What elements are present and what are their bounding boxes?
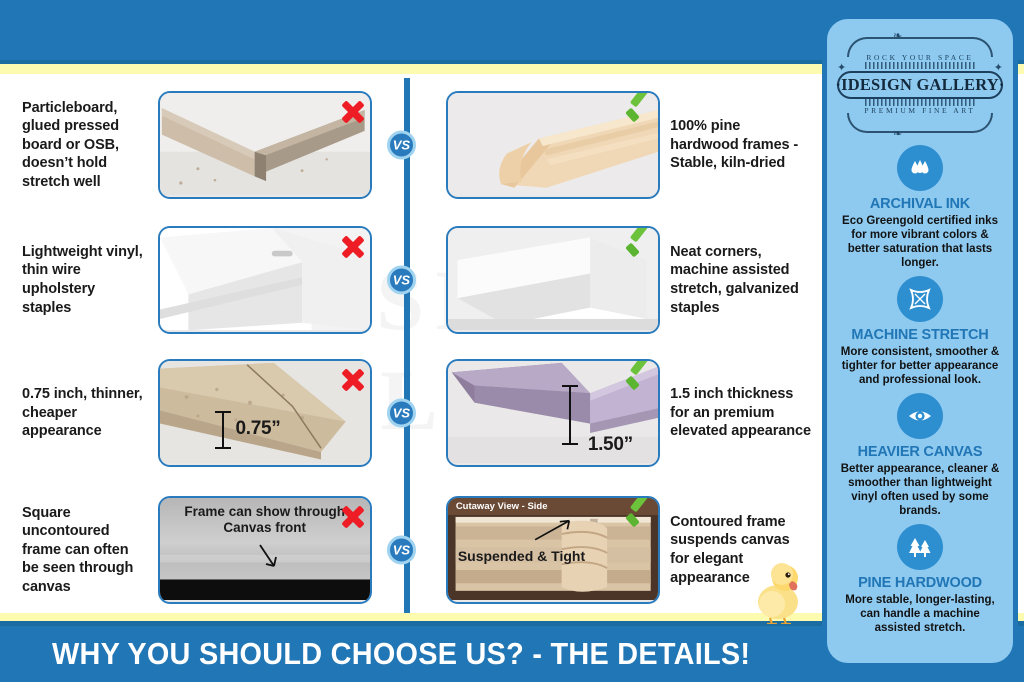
dimension-tick (562, 443, 578, 445)
water-drops-icon (897, 145, 943, 191)
vs-badge: VS (387, 266, 416, 295)
feature-body: More consistent, smoother & tighter for … (835, 345, 1005, 387)
logo-name: ·IDESIGN GALLERY· (835, 75, 1004, 95)
x-mark-icon (340, 234, 366, 265)
logo-flourish-icon: ❧ (893, 29, 902, 42)
vs-separator: VS (372, 76, 428, 214)
vs-badge: VS (387, 131, 416, 160)
vs-separator: VS (372, 480, 428, 620)
comparison-area: Particleboard, glued pressed board or OS… (0, 74, 812, 622)
feature-title: ARCHIVAL INK (835, 196, 1005, 212)
vinyl-corner-photo (160, 228, 370, 330)
suspended-caption: Suspended & Tight (458, 548, 585, 564)
feature-title: HEAVIER CANVAS (835, 444, 1005, 460)
logo-flourish-icon: ✦ (837, 61, 846, 74)
check-mark-icon (624, 234, 654, 265)
their-feature-text: Particleboard, glued pressed board or OS… (0, 99, 151, 192)
our-photo-card: Cutaway View - Side Suspended & Tight (446, 496, 660, 604)
feature-title: MACHINE STRETCH (835, 327, 1005, 343)
logo-hatch-bottom (865, 99, 975, 106)
our-feature-text: 1.5 inch thickness for an premium elevat… (660, 385, 812, 441)
logo-flourish-icon: ❧ (893, 127, 902, 140)
vs-badge: VS (387, 399, 416, 428)
their-photo-card: Frame can show through Canvas front (158, 496, 372, 604)
pine-trees-icon (897, 524, 943, 570)
duckling-image (752, 556, 808, 624)
their-feature-text: Square uncontoured frame can often be se… (0, 504, 151, 597)
showthrough-caption: Frame can show through Canvas front (160, 504, 370, 536)
down-arrow-icon (254, 542, 284, 572)
thickness-caption: 1.50” (588, 434, 633, 456)
vs-badge: VS (387, 536, 416, 565)
feature-machine-stretch: MACHINE STRETCH More consistent, smoothe… (835, 276, 1005, 387)
their-photo-card (158, 91, 372, 199)
vs-separator: VS (372, 214, 428, 346)
their-photo-card (158, 226, 372, 334)
logo-bottom-arc (847, 113, 993, 133)
logo-plate: ·IDESIGN GALLERY· (837, 71, 1003, 99)
dimension-tick (215, 411, 231, 413)
x-mark-icon (340, 367, 366, 398)
logo-hatch-top (865, 62, 975, 69)
footer-tagline: WHY YOU SHOULD CHOOSE US? - THE DETAILS! (52, 636, 750, 672)
our-feature-text: Neat corners, machine assisted stretch, … (660, 243, 812, 317)
check-mark-icon (624, 367, 654, 398)
particleboard-frame-photo (160, 93, 370, 195)
their-feature-text: 0.75 inch, thinner, cheaper appearance (0, 385, 151, 441)
check-mark-icon (624, 99, 654, 130)
features-sidebar: ROCK YOUR SPACE ·IDESIGN GALLERY· PREMIU… (822, 14, 1018, 668)
brand-logo: ROCK YOUR SPACE ·IDESIGN GALLERY· PREMIU… (831, 31, 1009, 139)
feature-body: More stable, longer-lasting, can handle … (835, 593, 1005, 635)
their-feature-text: Lightweight vinyl, thin wire upholstery … (0, 243, 151, 317)
dimension-tick (215, 447, 231, 449)
dimension-line (569, 385, 571, 445)
our-photo-card (446, 226, 660, 334)
feature-body: Better appearance, cleaner & smoother th… (835, 462, 1005, 518)
eye-icon (897, 393, 943, 439)
our-photo-card: 1.50” (446, 359, 660, 467)
our-photo-card (446, 91, 660, 199)
logo-tagline-top: ROCK YOUR SPACE (831, 53, 1009, 62)
vs-separator: VS (372, 346, 428, 480)
dimension-tick (562, 385, 578, 387)
feature-pine-hardwood: PINE HARDWOOD More stable, longer-lastin… (835, 524, 1005, 635)
feature-title: PINE HARDWOOD (835, 575, 1005, 591)
feature-archival-ink: ARCHIVAL INK Eco Greengold certified ink… (835, 145, 1005, 270)
dimension-line (222, 411, 224, 449)
feature-body: Eco Greengold certified inks for more vi… (835, 214, 1005, 270)
thickness-caption: 0.75” (236, 418, 281, 440)
stretched-canvas-icon (897, 276, 943, 322)
x-mark-icon (340, 99, 366, 130)
logo-flourish-icon: ✦ (994, 61, 1003, 74)
thin-particleboard-photo (160, 361, 370, 463)
our-feature-text: 100% pine hardwood frames - Stable, kiln… (660, 117, 812, 173)
x-mark-icon (340, 504, 366, 535)
feature-heavier-canvas: HEAVIER CANVAS Better appearance, cleane… (835, 393, 1005, 518)
their-photo-card: 0.75” (158, 359, 372, 467)
check-mark-icon (624, 504, 654, 535)
